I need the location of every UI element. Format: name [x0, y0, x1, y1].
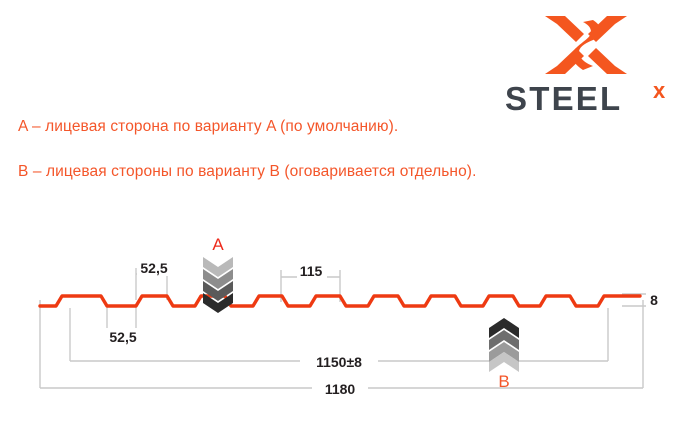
- chevron-up-icon: [489, 318, 519, 372]
- face-marker-b: B: [482, 318, 526, 392]
- chevron-down-icon: [203, 257, 233, 313]
- dimension-label-rib-bottom-width: 52,5: [109, 329, 136, 345]
- note-variant-a: A – лицевая сторона по варианту A (по ум…: [18, 118, 398, 136]
- dimension-label-rib-top-width: 52,5: [140, 260, 167, 276]
- dimension-label-rib-pitch: 115: [300, 263, 323, 279]
- note-variant-b: B – лицевая стороны по варианту B (огова…: [18, 163, 476, 181]
- dimension-label-overall-width: 1180: [325, 381, 356, 397]
- wordmark-steel-text: STEEL: [505, 80, 622, 117]
- face-marker-b-letter: B: [482, 372, 526, 392]
- steelx-wordmark: STEEL x: [505, 80, 695, 118]
- face-marker-a-letter: A: [196, 235, 240, 255]
- screenshot-root: STEEL x A – лицевая сторона по варианту …: [0, 0, 700, 436]
- face-marker-a: A: [196, 235, 240, 315]
- dimension-labels: 52,5 52,5 115 8 1150±8 1180: [105, 259, 664, 398]
- profile-technical-drawing: 52,5 52,5 115 8 1150±8 1180: [0, 228, 700, 413]
- wordmark-superscript-x: x: [653, 80, 666, 103]
- dimension-label-profile-height: 8: [650, 292, 658, 308]
- steelx-logo: STEEL x: [505, 14, 695, 118]
- dimension-label-effective-width: 1150±8: [316, 354, 362, 370]
- steelx-x-monogram-icon: [543, 14, 629, 76]
